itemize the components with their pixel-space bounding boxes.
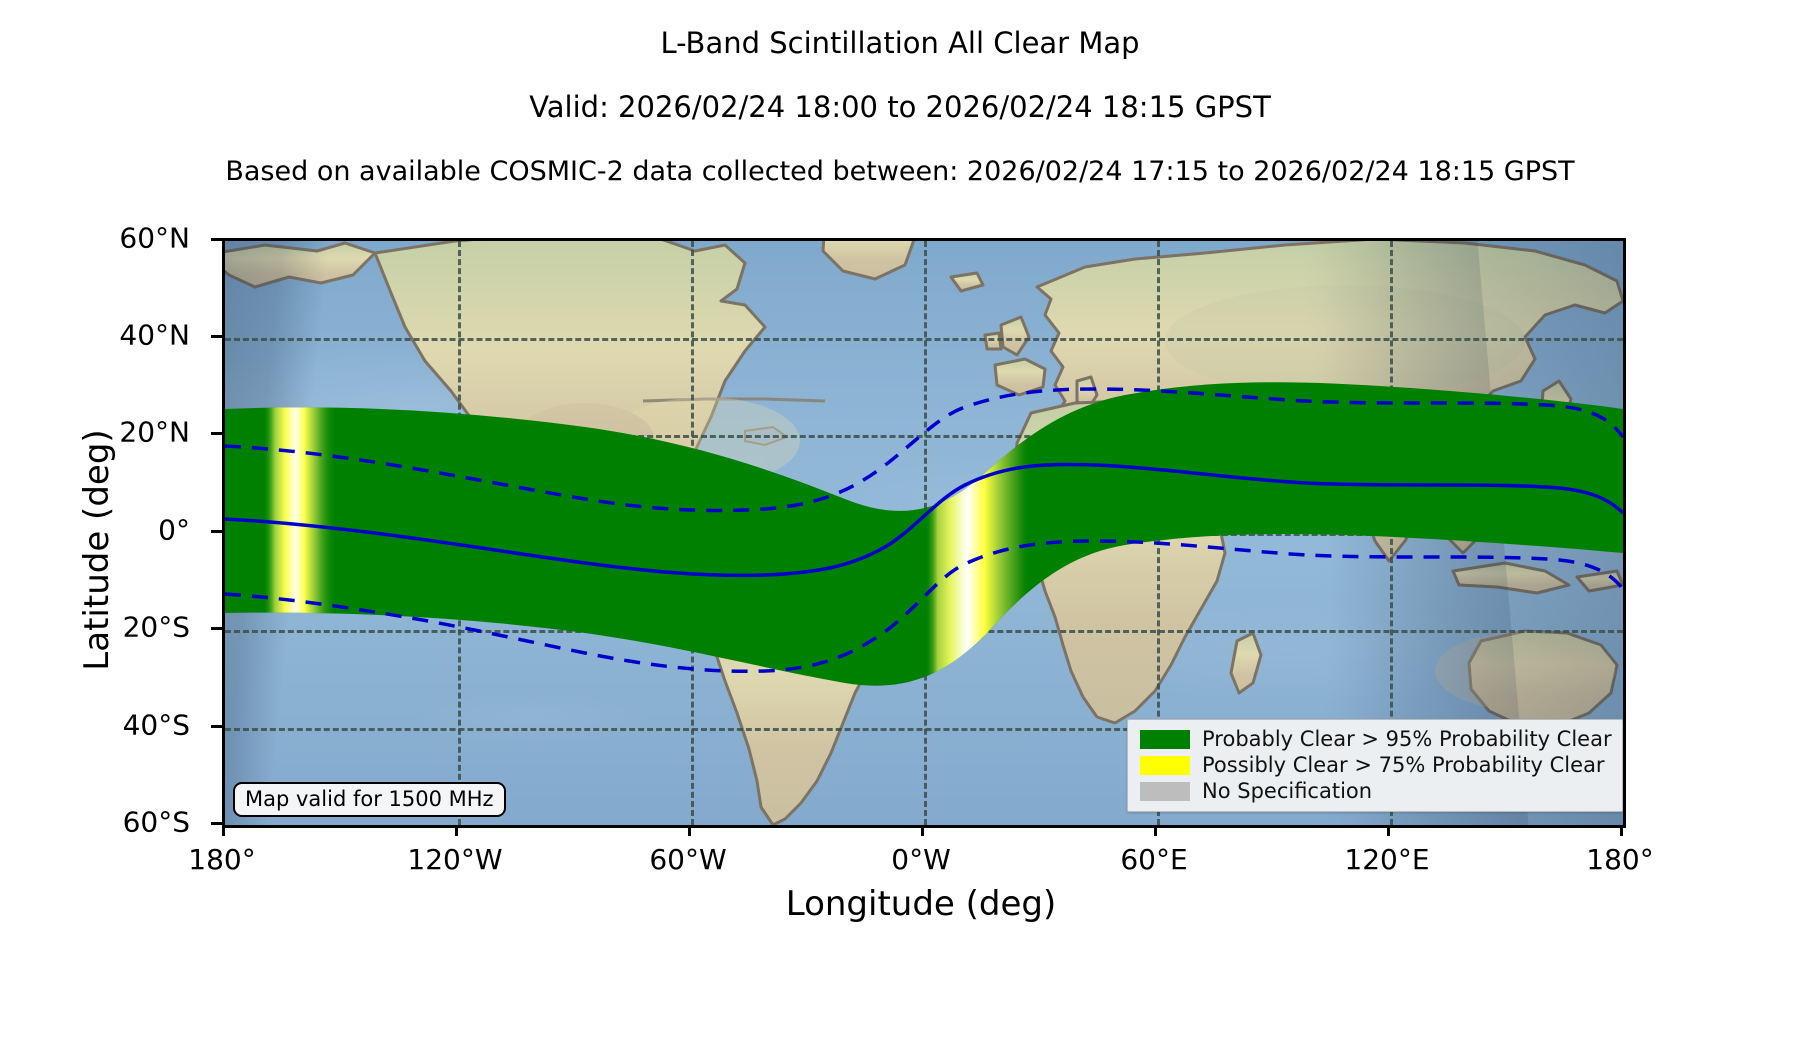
xtick-label-60W: 60°W — [598, 843, 778, 876]
legend-item-probably-clear: Probably Clear > 95% Probability Clear — [1140, 726, 1612, 752]
legend-swatch-no-specification — [1140, 782, 1190, 801]
data-source-subtitle: Based on available COSMIC-2 data collect… — [0, 156, 1800, 187]
xtick-label-60E: 60°E — [1064, 843, 1244, 876]
map-canvas: Map valid for 1500 MHz Probably Clear > … — [225, 241, 1623, 825]
xtick-label-180W: 180° — [132, 843, 312, 876]
scintillation-map-figure: L-Band Scintillation All Clear Map Valid… — [0, 0, 1800, 1050]
xtick-mark-180E — [1620, 825, 1623, 836]
legend-label-possibly-clear: Possibly Clear > 75% Probability Clear — [1202, 753, 1605, 777]
ytick-mark-40N — [211, 335, 222, 338]
xtick-label-120E: 120°E — [1297, 843, 1477, 876]
legend-item-no-specification: No Specification — [1140, 778, 1612, 804]
xtick-mark-180W — [222, 825, 225, 836]
frequency-annotation-box: Map valid for 1500 MHz — [233, 782, 506, 817]
xtick-mark-120W — [455, 825, 458, 836]
legend-swatch-possibly-clear — [1140, 756, 1190, 775]
xtick-label-120W: 120°W — [365, 843, 545, 876]
xtick-label-0: 0°W — [831, 843, 1011, 876]
ytick-mark-20S — [211, 627, 222, 630]
xtick-mark-60W — [688, 825, 691, 836]
xtick-label-180E: 180° — [1530, 843, 1710, 876]
map-plot-area[interactable]: Map valid for 1500 MHz Probably Clear > … — [222, 238, 1626, 828]
ytick-mark-60N — [211, 238, 222, 241]
xtick-mark-120E — [1387, 825, 1390, 836]
ytick-mark-60S — [211, 822, 222, 825]
ytick-mark-40S — [211, 725, 222, 728]
frequency-annotation-text: Map valid for 1500 MHz — [245, 787, 494, 811]
geomagnetic-north-bound-line — [225, 389, 1623, 511]
geomagnetic-equator-line — [225, 464, 1623, 575]
legend-label-probably-clear: Probably Clear > 95% Probability Clear — [1202, 727, 1612, 751]
legend-item-possibly-clear: Possibly Clear > 75% Probability Clear — [1140, 752, 1612, 778]
ytick-mark-0 — [211, 530, 222, 533]
legend-swatch-probably-clear — [1140, 730, 1190, 749]
valid-period-subtitle: Valid: 2026/02/24 18:00 to 2026/02/24 18… — [0, 90, 1800, 124]
geomagnetic-south-bound-line — [225, 541, 1623, 671]
xtick-mark-60E — [1154, 825, 1157, 836]
ytick-mark-20N — [211, 432, 222, 435]
x-axis-title: Longitude (deg) — [222, 884, 1620, 924]
y-axis-title: Latitude (deg) — [77, 240, 117, 860]
legend-label-no-specification: No Specification — [1202, 779, 1372, 803]
page-title: L-Band Scintillation All Clear Map — [0, 26, 1800, 60]
map-legend: Probably Clear > 95% Probability Clear P… — [1127, 719, 1623, 812]
xtick-mark-0 — [921, 825, 924, 836]
